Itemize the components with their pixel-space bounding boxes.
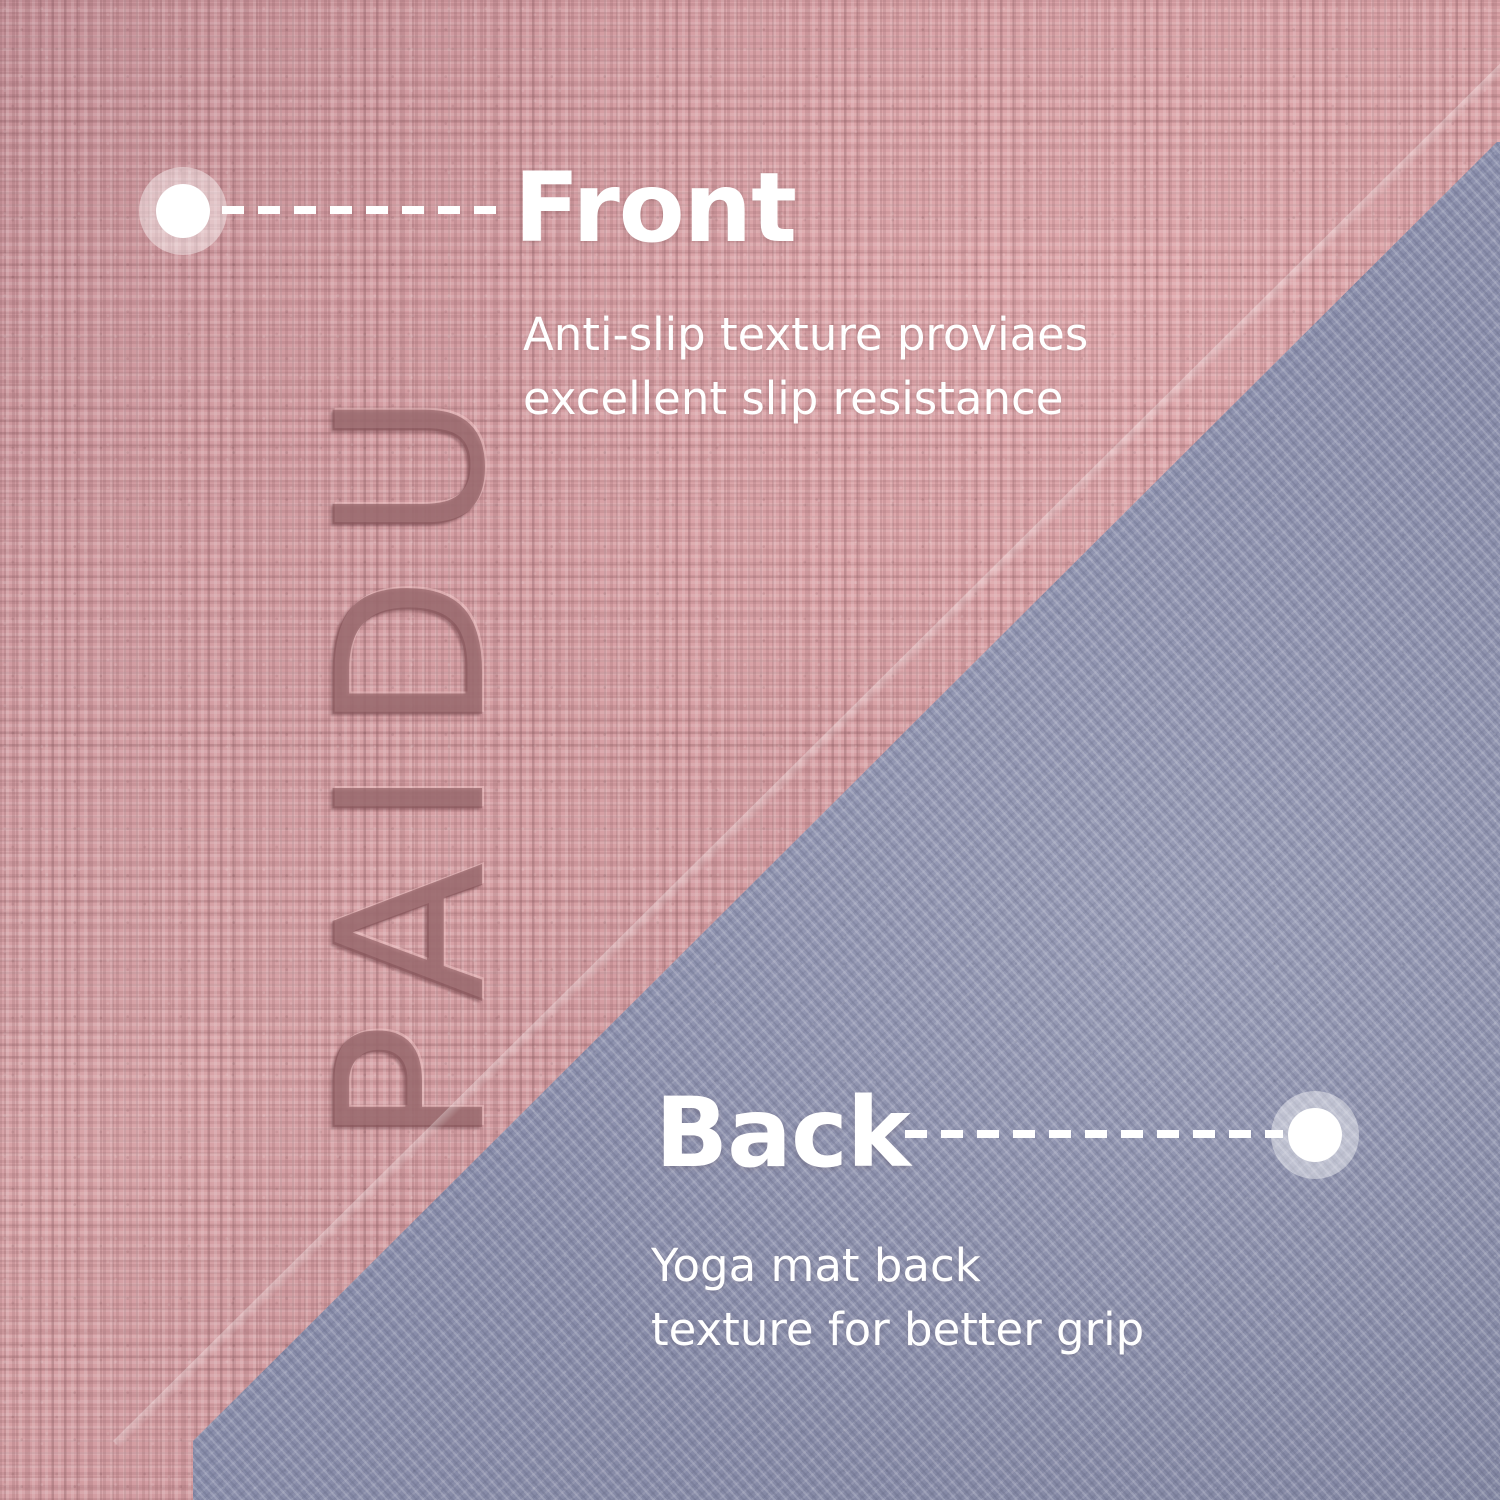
front-callout-description: Anti-slip texture proviaes excellent sli… [523,303,1088,431]
back-callout-marker-icon [1271,1091,1359,1179]
back-description-line-1: Yoga mat back [651,1234,1144,1298]
front-description-line-1: Anti-slip texture proviaes [523,303,1088,367]
back-description-line-2: texture for better grip [651,1298,1144,1362]
embossed-brand-logo: PAIDU [310,358,515,1147]
back-marker-core-icon [1288,1108,1342,1162]
back-callout-description: Yoga mat back texture for better grip [651,1234,1144,1362]
product-feature-image: PAIDU Front Anti-slip texture proviaes e… [0,0,1500,1500]
back-callout-label: Back [655,1085,910,1181]
front-description-line-2: excellent slip resistance [523,367,1088,431]
back-callout-connector-line [905,1130,1283,1138]
front-callout-connector-line [222,206,510,214]
front-marker-core-icon [156,184,210,238]
front-callout-label: Front [514,160,796,256]
front-callout-marker-icon [139,167,227,255]
